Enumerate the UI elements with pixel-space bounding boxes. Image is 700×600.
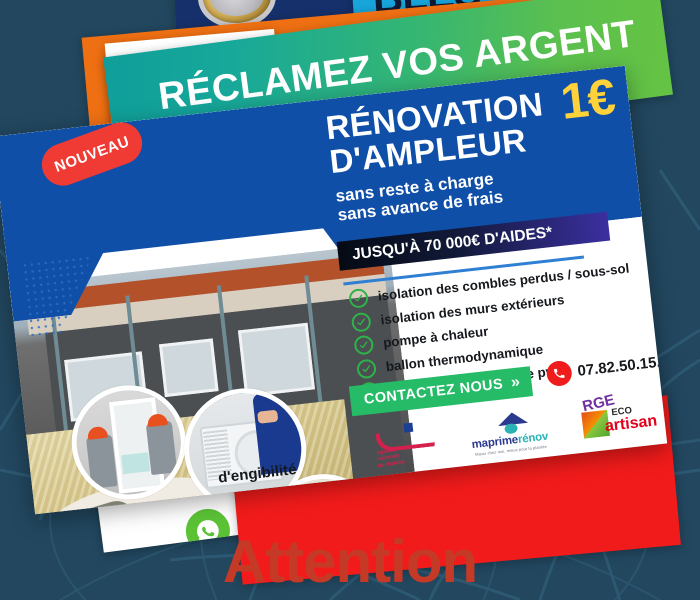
check-icon bbox=[348, 288, 369, 309]
check-icon bbox=[353, 335, 374, 356]
phone-icon bbox=[545, 360, 573, 388]
check-icon bbox=[356, 358, 377, 379]
poster-canvas: M BLES RÉCLAMEZ VOS ARGENT bbox=[0, 0, 700, 600]
logo-anah: Agence nationale de l'habitat bbox=[373, 420, 439, 468]
check-icon bbox=[351, 311, 372, 332]
window-installers-photo bbox=[66, 379, 192, 505]
page-title: Attention bbox=[0, 527, 700, 596]
logo-maprimerenov: maprimerénov Mieux chez moi, mieux pour … bbox=[459, 408, 559, 458]
logo-rge-ecoartisan: RGE ECO artisan bbox=[577, 386, 667, 445]
price-badge: 1€ bbox=[558, 71, 617, 127]
chevron-right-icon: » bbox=[510, 374, 519, 393]
